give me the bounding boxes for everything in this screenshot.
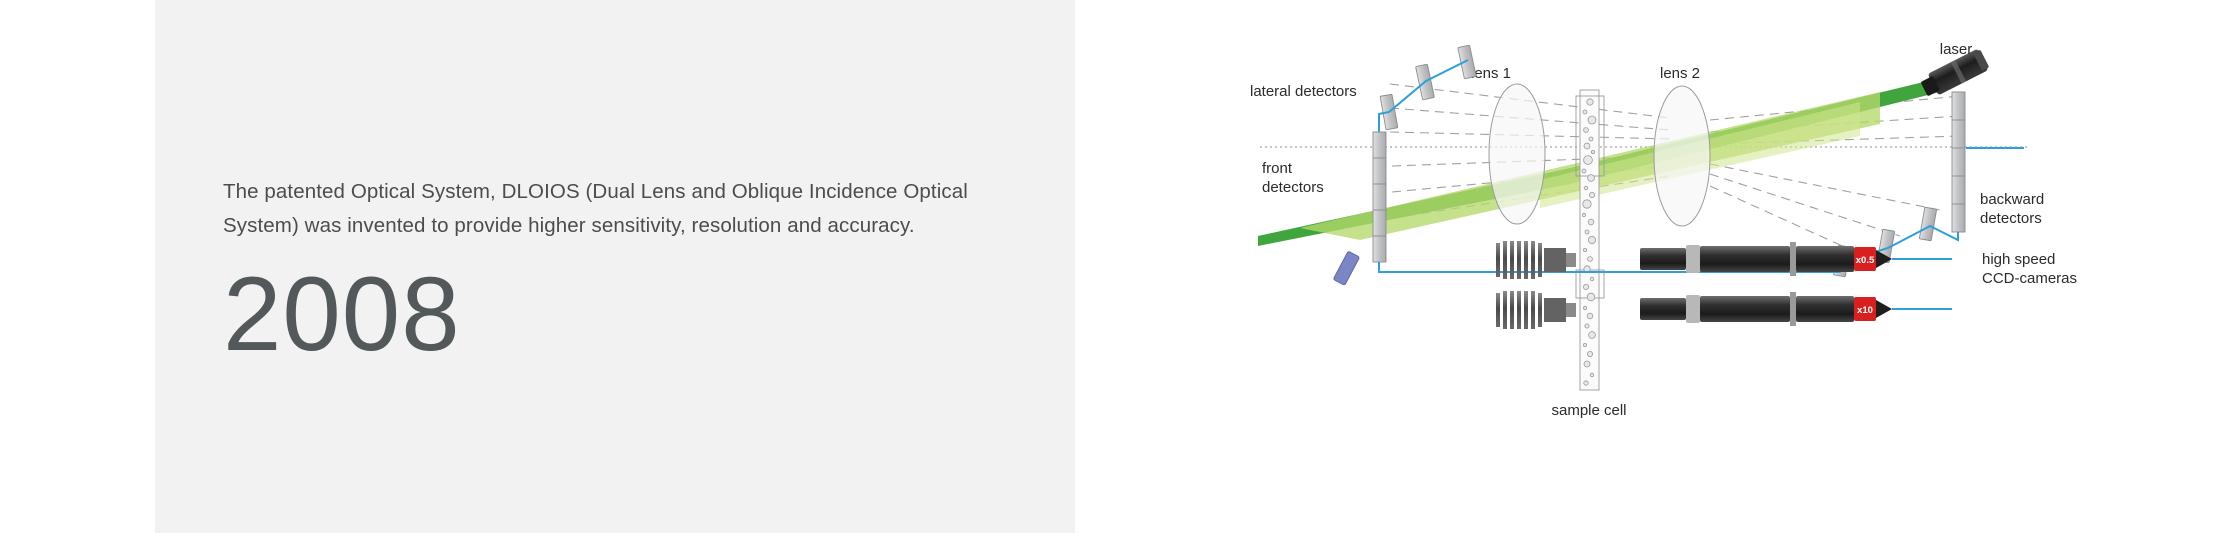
- lateral-detectors: [1380, 45, 1476, 130]
- laser-label: laser: [1940, 41, 1973, 58]
- finned-module-top: [1496, 241, 1576, 279]
- ccd-camera-bottom: x10: [1640, 292, 1892, 326]
- lens-1: [1489, 84, 1545, 224]
- sample-cell: [1576, 90, 1604, 390]
- ccd-camera-top: x0.5: [1640, 242, 1892, 276]
- ccd-cameras-label-line2: CCD-cameras: [1982, 270, 2077, 287]
- year-heading: 2008: [223, 259, 1033, 371]
- optical-system-diagram: lens 1 lens 2: [1240, 40, 2200, 460]
- backward-detectors-label-line1: backward: [1980, 191, 2044, 208]
- backward-detector-stack: [1952, 92, 1965, 232]
- text-block: The patented Optical System, DLOIOS (Dua…: [223, 175, 1033, 371]
- sample-cell-label: sample cell: [1551, 402, 1626, 419]
- lateral-detectors-label: lateral detectors: [1250, 83, 1357, 100]
- front-detectors-label-line1: front: [1262, 160, 1293, 177]
- ccd-camera-bottom-badge: x10: [1857, 305, 1873, 316]
- finned-module-bottom: [1496, 291, 1576, 329]
- left-content-panel: The patented Optical System, DLOIOS (Dua…: [155, 0, 1075, 533]
- beam-stop: [1333, 251, 1360, 285]
- front-detector-stack: [1373, 132, 1386, 262]
- lens-1-label: lens 1: [1471, 65, 1511, 82]
- ccd-cameras-label-line1: high speed: [1982, 251, 2055, 268]
- intro-paragraph: The patented Optical System, DLOIOS (Dua…: [223, 175, 1033, 243]
- ccd-camera-top-badge: x0.5: [1856, 255, 1875, 266]
- page-root: The patented Optical System, DLOIOS (Dua…: [0, 0, 2220, 540]
- backward-detectors-label-line2: detectors: [1980, 210, 2042, 227]
- front-detectors-label-line2: detectors: [1262, 179, 1324, 196]
- lens-2: [1654, 86, 1710, 226]
- lens-2-label: lens 2: [1660, 65, 1700, 82]
